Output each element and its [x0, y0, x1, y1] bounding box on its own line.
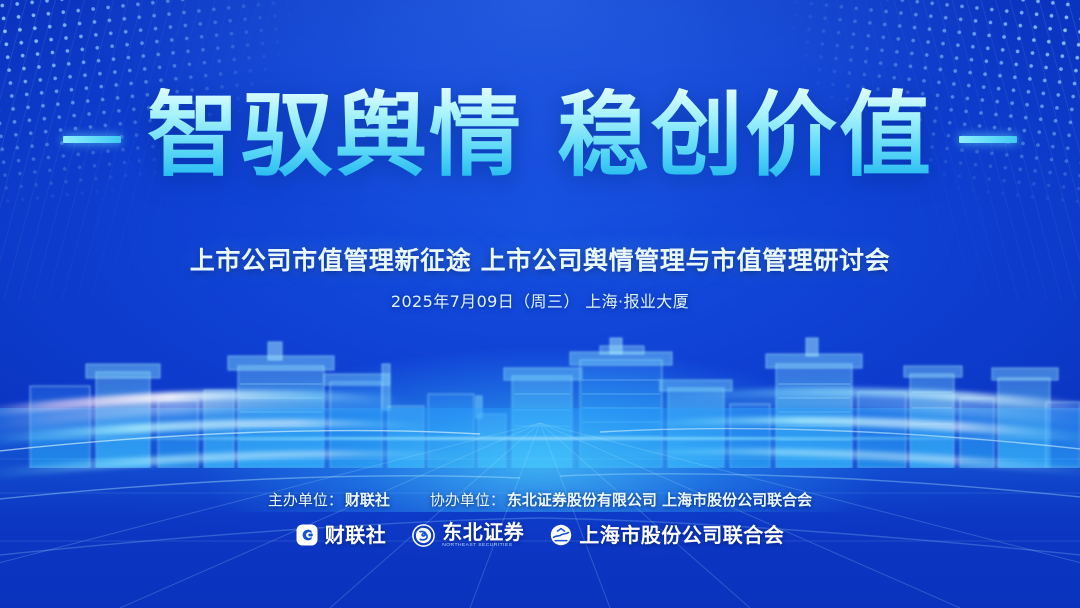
- organizer-coorganizer-value: 东北证券股份有限公司 上海市股份公司联合会: [507, 489, 812, 510]
- conference-poster: 智驭舆情稳创价值 上市公司市值管理新征途 上市公司舆情管理与市值管理研讨会 20…: [0, 0, 1080, 608]
- logo-northeast-securities-name: 东北证券: [442, 522, 524, 542]
- title-right: 稳创价值: [557, 82, 933, 189]
- organizer-coorganizer-label: 协办单位：: [430, 489, 505, 510]
- title-dash-right-icon: [959, 136, 1017, 143]
- northeast-securities-logo-icon: [412, 524, 435, 547]
- date-location: 2025年7月09日（周三） 上海·报业大厦: [0, 288, 1080, 312]
- logo-cailianshe: 财联社: [296, 524, 387, 546]
- organizer-coorganizer: 协办单位： 东北证券股份有限公司 上海市股份公司联合会: [430, 489, 812, 510]
- logo-cailianshe-name: 财联社: [325, 525, 387, 545]
- logo-shanghai-association: 上海市股份公司联合会: [550, 524, 784, 546]
- subtitle: 上市公司市值管理新征途 上市公司舆情管理与市值管理研讨会: [0, 241, 1080, 277]
- logo-northeast-securities: 东北证券 NORTHEAST SECURITIES: [412, 522, 524, 548]
- organizer-line: 主办单位： 财联社 协办单位： 东北证券股份有限公司 上海市股份公司联合会: [0, 489, 1080, 510]
- title-text: 智驭舆情稳创价值: [147, 88, 933, 185]
- logo-row: 财联社 东北证券 NORTHEAST SECURITIES: [0, 522, 1080, 548]
- organizer-host-label: 主办单位：: [268, 489, 343, 510]
- shanghai-association-logo-icon: [550, 524, 572, 546]
- logo-shanghai-association-name: 上海市股份公司联合会: [579, 525, 784, 545]
- main-title: 智驭舆情稳创价值: [0, 88, 1080, 185]
- organizer-host-value: 财联社: [345, 489, 390, 510]
- cls-c-logo-icon: [296, 524, 318, 546]
- logo-northeast-securities-sub: NORTHEAST SECURITIES: [442, 543, 524, 548]
- organizer-host: 主办单位： 财联社: [268, 489, 390, 510]
- logo-northeast-stack: 东北证券 NORTHEAST SECURITIES: [442, 522, 524, 548]
- title-dash-left-icon: [63, 136, 121, 143]
- title-left: 智驭舆情: [147, 82, 523, 189]
